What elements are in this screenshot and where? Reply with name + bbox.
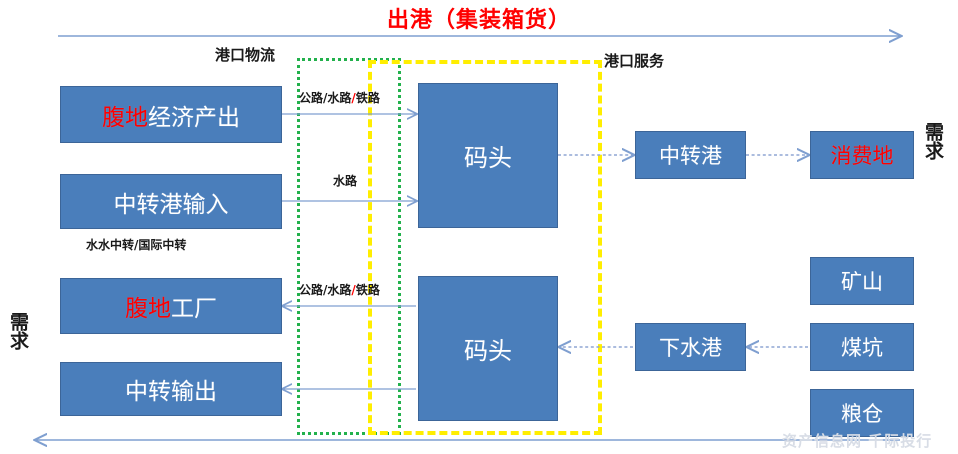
node-transfer-port[interactable]: 中转港 [635, 131, 746, 179]
node-downstream-port-label: 下水港 [659, 332, 722, 362]
node-mine-label: 矿山 [841, 266, 883, 296]
diagram-canvas: 出港（集装箱货） 需求 [0, 0, 958, 454]
mode-water-upper: 水路 [327, 91, 351, 105]
node-hinterland-output[interactable]: 腹地经济产出 [60, 86, 282, 143]
mode-label-upper: 公路/水路/铁路 [299, 87, 380, 106]
page-title: 出港（集装箱货） [0, 2, 958, 34]
node-transfer-port-input[interactable]: 中转港输入 [60, 174, 282, 229]
node-downstream-port[interactable]: 下水港 [635, 323, 746, 371]
mode-road-upper: 公路 [299, 91, 323, 105]
node-wharf-bottom-label: 码头 [464, 331, 512, 366]
mode-rail-upper: 铁路 [356, 91, 380, 105]
node-consumption[interactable]: 消费地 [810, 131, 914, 179]
node-granary-label: 粮仓 [841, 398, 883, 428]
port-logistics-label: 港口物流 [215, 44, 275, 65]
node-transfer-output-label: 中转输出 [125, 372, 217, 406]
mode-road-lower: 公路 [299, 283, 323, 297]
port-service-label: 港口服务 [604, 50, 664, 71]
node-transfer-port-label: 中转港 [659, 140, 722, 170]
right-demand-label: 需求 [923, 122, 942, 160]
node-coal-pit[interactable]: 煤坑 [810, 323, 914, 371]
node-transfer-output[interactable]: 中转输出 [60, 362, 282, 416]
node-hinterland-output-suffix: 经济产出 [148, 98, 240, 132]
node-hinterland-output-prefix: 腹地 [102, 98, 148, 132]
node-hinterland-factory-prefix: 腹地 [125, 289, 171, 323]
mode-water-lower: 水路 [327, 283, 351, 297]
left-demand-label: 需求 [8, 312, 27, 350]
node-wharf-top[interactable]: 码头 [418, 83, 558, 228]
mode-label-middle: 水路 [333, 172, 357, 189]
node-wharf-top-label: 码头 [464, 138, 512, 173]
node-wharf-bottom[interactable]: 码头 [418, 276, 558, 421]
node-transfer-port-input-label: 中转港输入 [114, 185, 229, 219]
node-consumption-label: 消费地 [831, 140, 894, 170]
mode-label-lower: 公路/水路/铁路 [299, 279, 380, 298]
mode-rail-lower: 铁路 [356, 283, 380, 297]
node-coal-pit-label: 煤坑 [841, 332, 883, 362]
node-hinterland-factory-suffix: 工厂 [171, 289, 217, 323]
water-transfer-note: 水水中转/国际中转 [86, 236, 186, 253]
node-hinterland-factory[interactable]: 腹地工厂 [60, 278, 282, 334]
node-mine[interactable]: 矿山 [810, 257, 914, 305]
watermark: 资产信息网 千际投行 [782, 430, 932, 451]
